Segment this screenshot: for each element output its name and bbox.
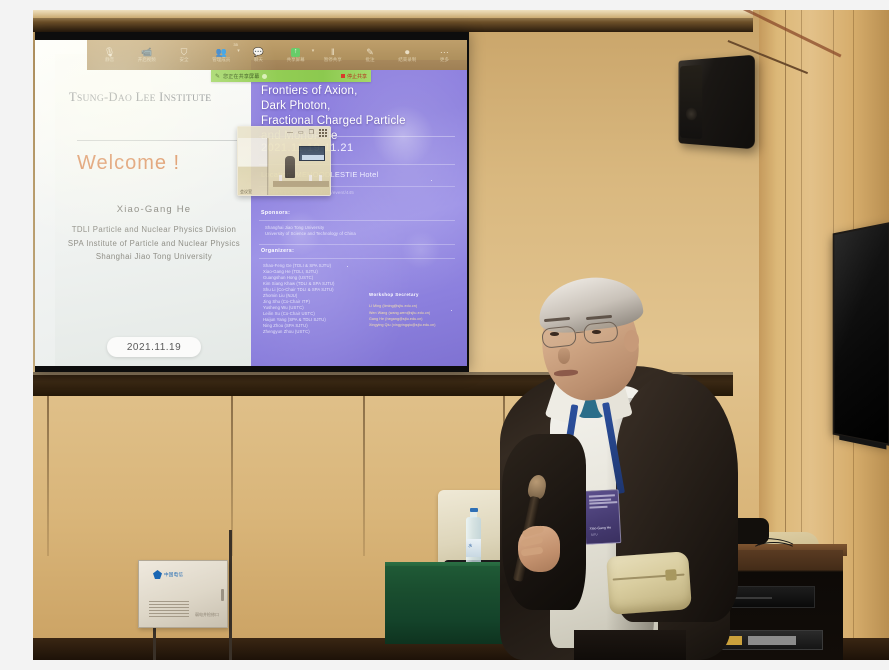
secretary-contact: Xingying Qiu (xingyingqiu@sjtu.edu.cn) xyxy=(369,322,436,328)
speaker-affiliation: SPA Institute of Particle and Nuclear Ph… xyxy=(61,237,247,251)
more-icon: ⋯ xyxy=(440,47,449,57)
wall-speaker xyxy=(678,55,754,150)
speaker-block: Xiao-Gang He TDLI Particle and Nuclear P… xyxy=(61,204,247,264)
toolbar-mute-button[interactable]: 🎙 静音 xyxy=(91,41,128,69)
screen-share-banner[interactable]: ✎ 您正在共享屏幕 停止共享 xyxy=(211,70,371,82)
grid-view-icon[interactable] xyxy=(319,129,327,137)
conference-title-line: Frontiers of Axion, xyxy=(261,84,461,99)
title-divider xyxy=(77,140,237,141)
toolbar-label: 静音 xyxy=(105,57,114,63)
glasses-bridge xyxy=(576,331,584,333)
toolbar-annotate-button[interactable]: ✎ 批注 xyxy=(351,41,388,69)
maximize-icon[interactable]: ▭ xyxy=(298,130,304,136)
telecom-logo: 中国电信 xyxy=(153,570,183,579)
sponsors-heading: Sponsors: xyxy=(261,210,290,216)
toolbar-chat-button[interactable]: 💬 聊天 xyxy=(240,41,277,69)
chat-icon: 💬 xyxy=(253,47,264,57)
organizers-heading: Organizers: xyxy=(261,248,294,254)
security-icon: ⛉ xyxy=(181,47,188,57)
speaker-name: Xiao-Gang He xyxy=(61,204,247,215)
badge-name: Xiao-Gang He xyxy=(589,526,611,531)
secretary-heading: Workshop Secretary xyxy=(369,292,419,297)
slide-welcome: TSUNG-DAO LEE INSTITUTE Welcome ! Xiao-G… xyxy=(55,54,251,366)
stop-share-button[interactable]: 停止共享 xyxy=(341,73,367,80)
photo-frame: TSUNG-DAO LEE INSTITUTE Welcome ! Xiao-G… xyxy=(0,0,889,670)
speaker-driver xyxy=(686,108,697,121)
status-dot xyxy=(262,74,267,79)
eye-left xyxy=(550,332,559,336)
poster-divider xyxy=(259,220,455,221)
toolbar-security-button[interactable]: ⛉ 安全 xyxy=(165,41,202,69)
panel-latch xyxy=(221,589,224,601)
slide-conference-poster: Frontiers of Axion, Dark Photon, Fractio… xyxy=(251,60,467,366)
conference-title-line: Dark Photon, xyxy=(261,99,461,114)
pip-person xyxy=(285,156,295,178)
eye-right xyxy=(592,330,601,334)
pause-icon: ‖ xyxy=(331,47,335,57)
ceiling-lip xyxy=(33,10,753,18)
institute-title: TSUNG-DAO LEE INSTITUTE xyxy=(69,90,244,105)
pencil-icon[interactable]: ✎ xyxy=(215,73,220,80)
toolbar-pause-button[interactable]: ‖ 暂停共享 xyxy=(314,41,351,69)
vent-slots xyxy=(149,601,189,619)
toolbar-participants-button[interactable]: 👥 35 ▾ 管理成员 xyxy=(203,41,240,69)
welcome-heading: Welcome ! xyxy=(77,152,180,175)
wall-tv xyxy=(833,222,889,446)
pip-tile-label: 会议室 xyxy=(240,189,252,195)
toolbar-label: 开启视频 xyxy=(138,57,156,63)
secretary-contact: Li Ming (liming@sjtu.edu.cn) xyxy=(369,304,417,309)
wall-panel-divider xyxy=(47,396,49,556)
pip-tile-secondary[interactable]: 会议室 xyxy=(238,138,268,196)
toolbar-video-button[interactable]: 📹 开启视频 xyxy=(128,41,165,69)
pip-tile-primary[interactable] xyxy=(269,138,331,196)
restore-icon[interactable]: ❐ xyxy=(309,130,314,136)
minimize-icon[interactable]: — xyxy=(287,130,293,136)
wall-panel-divider xyxy=(363,396,365,556)
bag-pocket xyxy=(665,569,677,581)
nose xyxy=(558,348,570,364)
stop-share-label: 停止共享 xyxy=(347,73,367,80)
projection-screen: TSUNG-DAO LEE INSTITUTE Welcome ! Xiao-G… xyxy=(35,40,467,366)
tv-glare xyxy=(834,224,888,443)
microphone-icon: 🎙 xyxy=(104,47,115,57)
toolbar-label: 结束录制 xyxy=(398,57,416,63)
wall-conduit xyxy=(229,530,232,660)
toolbar-record-button[interactable]: ⏺ 结束录制 xyxy=(389,41,426,69)
meeting-toolbar[interactable]: 🎙 静音 📹 开启视频 ⛉ 安全 👥 35 ▾ xyxy=(87,40,467,70)
sponsor-item: University of Science and Technology of … xyxy=(265,231,356,237)
pip-video-window[interactable]: — ▭ ❐ 会议室 xyxy=(237,126,331,196)
waist-bag xyxy=(606,551,692,615)
china-telecom-wall-panel: 中国电信 弱电井检修口 xyxy=(138,560,228,628)
bottle-label: 水 xyxy=(466,539,481,557)
organizer-item: Zhengyun Zhou (USTC) xyxy=(263,329,310,335)
presenter: Xiao-Gang He SJTU xyxy=(488,278,738,660)
toolbar-label: 安全 xyxy=(180,57,189,63)
toolbar-more-button[interactable]: ⋯ 更多 xyxy=(426,41,463,69)
pip-whiteboard xyxy=(299,146,325,161)
arm-left xyxy=(502,434,586,610)
conference-photo: TSUNG-DAO LEE INSTITUTE Welcome ! Xiao-G… xyxy=(33,10,889,660)
speaker-affiliation: TDLI Particle and Nuclear Physics Divisi… xyxy=(61,223,247,237)
panel-code-label: 弱电井检修口 xyxy=(195,612,219,618)
toolbar-label: 共享屏幕 xyxy=(287,57,305,63)
stop-square-icon xyxy=(341,74,345,78)
badge-org: SJTU xyxy=(591,533,598,536)
wall-conduit xyxy=(153,624,156,660)
speaker-grille xyxy=(680,65,702,139)
pip-table xyxy=(273,181,329,187)
camera-off-icon: 📹 xyxy=(141,47,152,57)
speaker-affiliation: Shanghai Jiao Tong University xyxy=(61,250,247,264)
china-telecom-logo-icon xyxy=(153,570,162,579)
toolbar-label: 聊天 xyxy=(254,57,263,63)
share-screen-icon: ↑ xyxy=(291,48,300,57)
share-status-label: 您正在共享屏幕 xyxy=(223,73,259,80)
lens-left xyxy=(541,325,577,348)
participants-icon: 👥 xyxy=(216,47,227,57)
toolbar-label: 批注 xyxy=(366,57,375,63)
projection-screen-frame: TSUNG-DAO LEE INSTITUTE Welcome ! Xiao-G… xyxy=(35,32,469,372)
name-badge: Xiao-Gang He SJTU xyxy=(583,489,622,545)
toolbar-share-button[interactable]: ↑ ▾ 共享屏幕 xyxy=(277,41,314,69)
av-faceplate xyxy=(748,636,796,645)
poster-divider xyxy=(259,244,455,245)
poster-divider xyxy=(259,258,455,259)
annotate-icon: ✎ xyxy=(366,47,374,57)
pip-titlebar[interactable]: — ▭ ❐ xyxy=(238,127,331,138)
record-icon: ⏺ xyxy=(405,47,410,57)
bottle-cap xyxy=(470,508,478,512)
toolbar-label: 管理成员 xyxy=(212,57,230,63)
participants-count: 35 xyxy=(233,42,237,47)
slide-date-badge: 2021.11.19 xyxy=(107,337,201,357)
bottle-brand: 水 xyxy=(468,543,472,549)
toolbar-label: 暂停共享 xyxy=(324,57,342,63)
telecom-brand-text: 中国电信 xyxy=(164,572,183,578)
toolbar-label: 更多 xyxy=(440,57,449,63)
nebula-decoration xyxy=(401,230,441,270)
legs xyxy=(574,630,686,660)
